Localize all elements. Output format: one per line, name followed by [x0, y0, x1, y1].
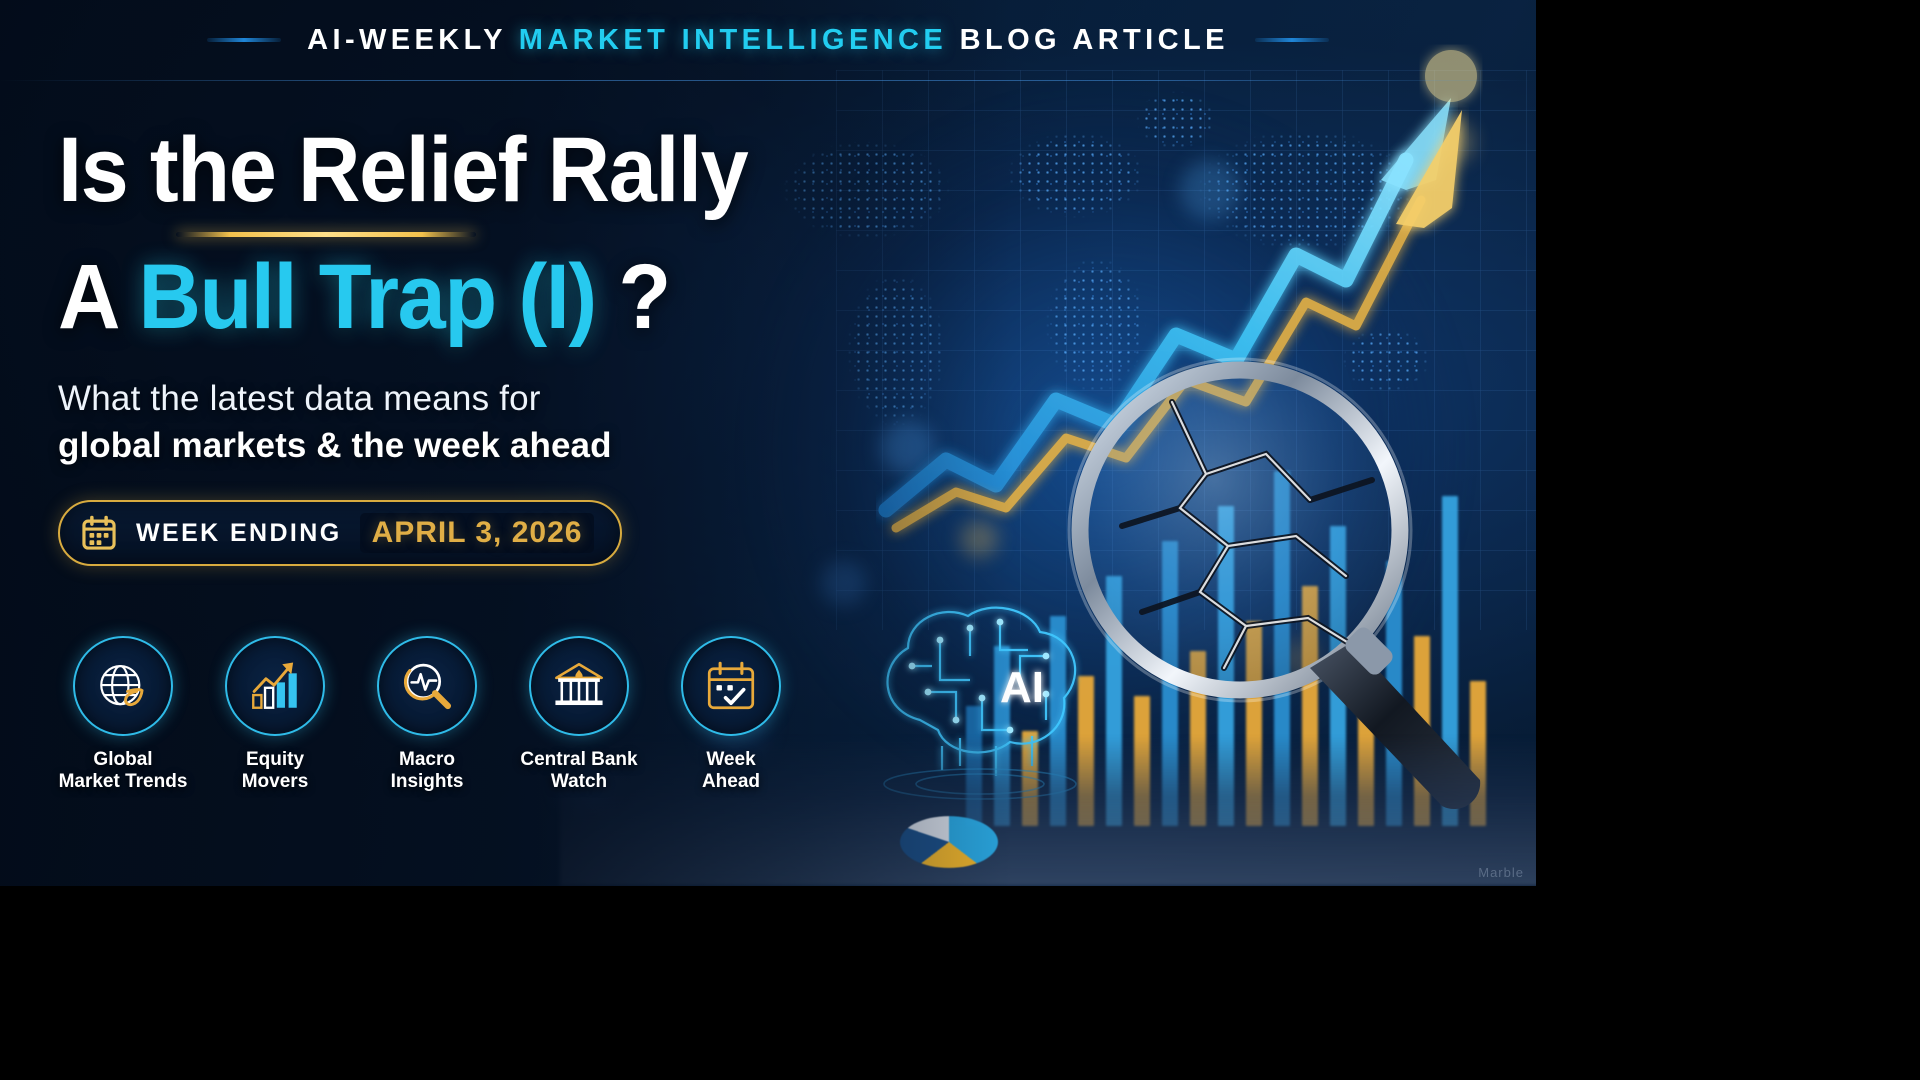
title-suffix: ?	[596, 246, 670, 348]
gold-divider	[176, 232, 476, 237]
feature-caption-line-1: Macro	[391, 749, 464, 771]
poster-canvas: AI	[0, 0, 1536, 886]
week-ending-badge[interactable]: WEEK ENDING APRIL 3, 2026	[58, 500, 622, 566]
globe-leaf-icon	[94, 657, 152, 715]
feature-ring	[529, 636, 629, 736]
title-prefix: A	[58, 246, 138, 348]
feature-item-macro-insights[interactable]: Macro Insights	[362, 636, 492, 794]
week-ending-value-box: APRIL 3, 2026	[360, 513, 595, 553]
subtitle-line-1: What the latest data means for	[58, 379, 938, 419]
feature-caption-line-1: Central Bank	[520, 749, 637, 771]
feature-caption-line-1: Equity	[242, 749, 309, 771]
feature-caption: Macro Insights	[391, 749, 464, 794]
feature-caption: Global Market Trends	[59, 749, 188, 794]
calendar-icon	[80, 514, 118, 552]
feature-ring	[225, 636, 325, 736]
kicker-rule-right	[1255, 38, 1329, 42]
feature-caption-line-2: Watch	[520, 771, 637, 793]
week-ending-label: WEEK ENDING	[136, 519, 342, 548]
feature-caption-line-2: Ahead	[702, 771, 760, 793]
page-title-line-1: Is the Relief Rally	[58, 124, 885, 216]
subtitle-line-2: global markets & the week ahead	[58, 426, 938, 466]
feature-item-central-bank-watch[interactable]: Central Bank Watch	[514, 636, 644, 794]
feature-item-equity-movers[interactable]: Equity Movers	[210, 636, 340, 794]
feature-caption: Equity Movers	[242, 749, 309, 794]
kicker-text: AI-WEEKLY MARKET INTELLIGENCE BLOG ARTIC…	[307, 24, 1229, 57]
hero-block: Is the Relief Rally A Bull Trap (I) ? Wh…	[58, 124, 938, 566]
pulse-magnifier-icon	[398, 657, 456, 715]
week-ending-value: APRIL 3, 2026	[372, 516, 583, 549]
header-divider	[0, 80, 1536, 81]
kicker-part-2: MARKET INTELLIGENCE	[519, 24, 947, 56]
kicker-part-3: BLOG ARTICLE	[960, 24, 1229, 56]
feature-ring	[73, 636, 173, 736]
feature-caption-line-2: Movers	[242, 771, 309, 793]
bar-chart-up-icon	[246, 657, 304, 715]
feature-caption: Week Ahead	[702, 749, 760, 794]
title-highlight: Bull Trap (I)	[138, 246, 595, 348]
feature-caption-line-1: Week	[702, 749, 760, 771]
kicker-part-1: AI-WEEKLY	[307, 24, 506, 56]
feature-item-global-market-trends[interactable]: Global Market Trends	[58, 636, 188, 794]
feature-caption-line-1: Global	[59, 749, 188, 771]
feature-caption-line-2: Market Trends	[59, 771, 188, 793]
header-kicker-bar: AI-WEEKLY MARKET INTELLIGENCE BLOG ARTIC…	[0, 0, 1536, 80]
kicker-rule-left	[207, 38, 281, 42]
feature-ring	[377, 636, 477, 736]
feature-item-week-ahead[interactable]: Week Ahead	[666, 636, 796, 794]
feature-caption: Central Bank Watch	[520, 749, 637, 794]
feature-icon-row: Global Market Trends Equity Movers	[58, 636, 796, 794]
calendar-check-icon	[702, 657, 760, 715]
feature-caption-line-2: Insights	[391, 771, 464, 793]
page-title-line-2: A Bull Trap (I) ?	[58, 251, 885, 343]
feature-ring	[681, 636, 781, 736]
watermark: Marble	[1478, 865, 1524, 880]
bank-building-icon	[550, 657, 608, 715]
